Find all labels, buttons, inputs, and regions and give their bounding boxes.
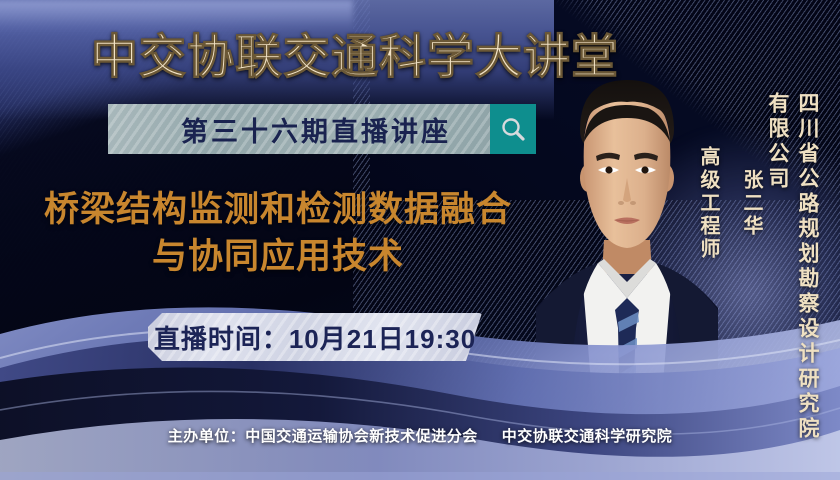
speaker-organization: 四川省公路规划勘察设计研究院有限公司 <box>762 92 822 464</box>
organizer-name-2: 中交协联交通科学研究院 <box>502 428 673 445</box>
speaker-info: 张二华 高级工程师 <box>694 96 766 311</box>
search-icon[interactable] <box>490 104 536 154</box>
episode-label: 第三十六期直播讲座 <box>147 110 451 149</box>
page-title: 中交协联交通科学大讲堂 <box>0 18 840 87</box>
organizer-label: 主办单位： <box>168 428 246 445</box>
organizer-name-1: 中国交通运输协会新技术促进分会 <box>245 428 478 445</box>
broadcast-time-text: 直播时间：10月21日19:30 <box>148 313 482 361</box>
livestream-poster: 中交协联交通科学大讲堂 第三十六期直播讲座 桥梁结构监测和检测数据融合 与协同应… <box>0 0 840 480</box>
broadcast-time-banner: 直播时间：10月21日19:30 <box>148 313 482 361</box>
episode-banner-background: 第三十六期直播讲座 <box>108 104 490 154</box>
episode-banner: 第三十六期直播讲座 <box>108 104 536 154</box>
headline-line-2: 与协同应用技术 <box>18 233 538 280</box>
lecture-headline: 桥梁结构监测和检测数据融合 与协同应用技术 <box>18 186 538 281</box>
speaker-title: 高级工程师 <box>694 146 723 261</box>
organizer-footer: 主办单位：中国交通运输协会新技术促进分会中交协联交通科学研究院 <box>0 425 840 446</box>
headline-line-1: 桥梁结构监测和检测数据融合 <box>44 190 512 229</box>
